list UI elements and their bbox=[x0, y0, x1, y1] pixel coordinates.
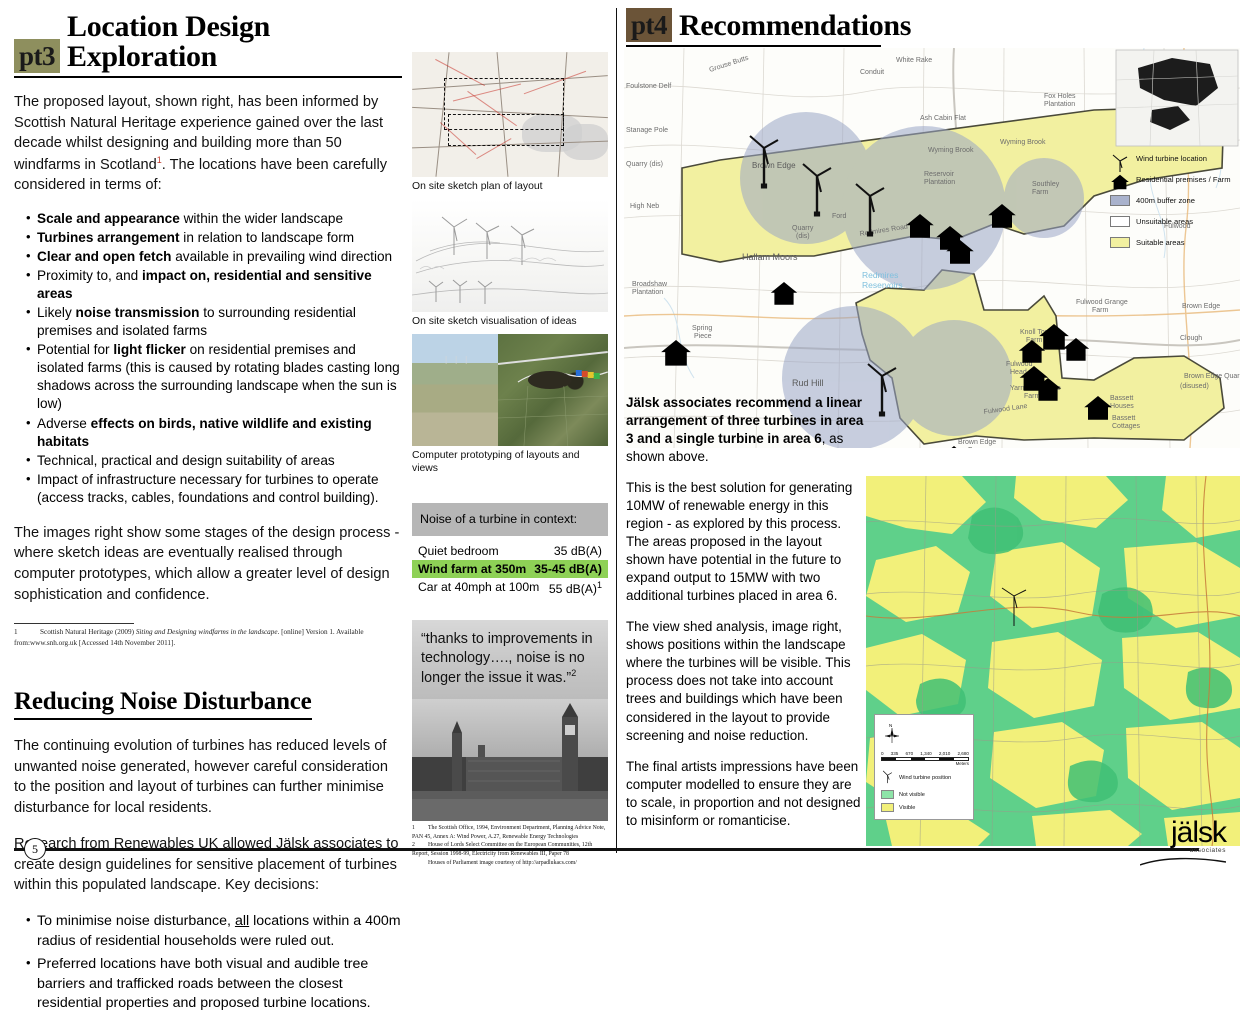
quote-block: “thanks to improvements in technology….,… bbox=[412, 620, 608, 821]
computer-prototyping-caption: Computer prototyping of layouts and view… bbox=[412, 446, 608, 481]
svg-text:Reservoirs: Reservoirs bbox=[862, 280, 903, 290]
scale-unit: Meters bbox=[881, 761, 969, 766]
list-item: Scale and appearance within the wider la… bbox=[26, 210, 402, 228]
svg-text:Plantation: Plantation bbox=[924, 179, 955, 186]
noise-paragraph-2: Research from Renewables UK allowed Jäls… bbox=[14, 834, 402, 896]
svg-text:Brown Edge: Brown Edge bbox=[1182, 303, 1220, 310]
svg-text:Farm: Farm bbox=[1024, 393, 1041, 400]
quote-footnotes: 1The Scottish Office, 1994, Environment … bbox=[412, 821, 608, 867]
svg-text:Wyming Brook: Wyming Brook bbox=[1000, 139, 1046, 146]
prototype-3d-view bbox=[412, 334, 498, 446]
pt4-badge: pt4 bbox=[626, 8, 672, 42]
svg-text:Quarry: Quarry bbox=[792, 225, 814, 232]
svg-text:Bassett: Bassett bbox=[1112, 415, 1135, 422]
footer-rule bbox=[14, 848, 1199, 851]
unsuitable-swatch bbox=[1110, 216, 1130, 227]
pencil-sketch-svg bbox=[412, 199, 608, 312]
pt4-title: Recommendations bbox=[679, 11, 911, 42]
column-divider bbox=[616, 8, 617, 853]
svg-text:Farm: Farm bbox=[1092, 307, 1109, 314]
footnote-ref-2: 2 bbox=[571, 668, 576, 678]
quote-text-panel: “thanks to improvements in technology….,… bbox=[412, 620, 608, 699]
svg-text:Cottages: Cottages bbox=[1112, 423, 1141, 430]
svg-text:N: N bbox=[889, 723, 892, 728]
svg-text:Wyming Brook: Wyming Brook bbox=[928, 147, 974, 154]
recommendation-paragraph-3: The view shed analysis, image right, sho… bbox=[626, 618, 864, 744]
legend-item-buffer: 400m buffer zone bbox=[1110, 190, 1238, 211]
svg-text:Ford: Ford bbox=[832, 213, 847, 220]
svg-text:Hallam Moors: Hallam Moors bbox=[742, 252, 798, 262]
suitability-map[interactable]: White Rake Conduit Grouse Butts Ash Cabi… bbox=[624, 48, 1240, 448]
pt3-footnote: 1Scottish Natural Heritage (2009) Siting… bbox=[14, 623, 134, 648]
svg-text:Quarry (dis): Quarry (dis) bbox=[626, 161, 663, 168]
svg-text:Brown Edge: Brown Edge bbox=[752, 161, 796, 170]
not-visible-swatch bbox=[881, 790, 894, 799]
svg-text:Piece: Piece bbox=[694, 333, 712, 340]
svg-text:Rud Hill: Rud Hill bbox=[792, 378, 824, 388]
visible-swatch bbox=[881, 803, 894, 812]
legend-label: 400m buffer zone bbox=[1136, 196, 1195, 205]
noise-section: Reducing Noise Disturbance The continuin… bbox=[14, 688, 402, 1014]
svg-text:Redmires: Redmires bbox=[862, 270, 898, 280]
brand-logo: jälsk associates bbox=[1140, 818, 1226, 872]
legend-label: Not visible bbox=[899, 792, 925, 798]
pt3-closing-paragraph: The images right show some stages of the… bbox=[14, 523, 402, 605]
svg-text:Reservoir: Reservoir bbox=[924, 171, 955, 178]
legend-item-visible: Visible bbox=[881, 803, 968, 812]
list-item: Potential for light flicker on residenti… bbox=[26, 341, 402, 413]
recommendation-paragraph-4: The final artists impressions have been … bbox=[626, 758, 864, 830]
legend-label: Visible bbox=[899, 805, 915, 811]
noise-section-title: Reducing Noise Disturbance bbox=[14, 688, 312, 720]
viewshed-legend: N 0 335 670 1,340 2,010 2,680 bbox=[874, 714, 974, 820]
svg-text:Spring: Spring bbox=[692, 325, 712, 332]
house-icon bbox=[1110, 174, 1130, 185]
svg-text:Southley: Southley bbox=[1032, 181, 1060, 188]
design-criteria-list: Scale and appearance within the wider la… bbox=[26, 210, 402, 507]
sketch-visualisation-image bbox=[412, 199, 608, 312]
legend-item-suitable: Suitable areas bbox=[1110, 232, 1238, 253]
svg-text:Brown Edge Quarries: Brown Edge Quarries bbox=[1184, 373, 1240, 380]
svg-text:Farm: Farm bbox=[1032, 189, 1049, 196]
scale-bar: 0 335 670 1,340 2,010 2,680 Meters bbox=[881, 751, 968, 766]
logo-wordmark: jälsk bbox=[1140, 818, 1226, 848]
logo-swoosh-icon bbox=[1140, 857, 1226, 867]
recommendation-statement: Jälsk associates recommend a linear arra… bbox=[626, 394, 864, 466]
svg-text:Ash Cabin Flat: Ash Cabin Flat bbox=[920, 115, 966, 122]
emphasis-all: all bbox=[235, 913, 249, 929]
pt3-section-header: pt3 Location Design Exploration bbox=[14, 12, 402, 78]
noise-decisions-list: To minimise noise disturbance, all locat… bbox=[26, 912, 402, 1014]
svg-text:Broadshaw: Broadshaw bbox=[632, 281, 668, 288]
svg-text:(disused): (disused) bbox=[1180, 383, 1209, 390]
buffer-swatch bbox=[1110, 195, 1130, 206]
svg-text:Clough: Clough bbox=[1180, 335, 1202, 342]
table-row: Quiet bedroom 35 dB(A) bbox=[412, 542, 608, 560]
suitability-map-legend: Wind turbine location Residential premis… bbox=[1110, 148, 1238, 253]
table-row: Car at 40mph at 100m 55 dB(A)1 bbox=[412, 578, 608, 598]
legend-label: Residential premises / Farm bbox=[1136, 175, 1231, 184]
list-item: Likely noise transmission to surrounding… bbox=[26, 304, 402, 340]
quote-text: “thanks to improvements in technology….,… bbox=[421, 631, 593, 685]
pt3-intro-paragraph: The proposed layout, shown right, has be… bbox=[14, 92, 402, 196]
sketch-plan-caption: On site sketch plan of layout bbox=[412, 177, 608, 199]
sketch-plan-image bbox=[412, 52, 608, 177]
turbine-icon bbox=[881, 770, 894, 786]
legend-item-turbine-position: Wind turbine position bbox=[881, 770, 968, 786]
page-number: 5 bbox=[24, 838, 46, 860]
svg-text:Houses: Houses bbox=[1110, 403, 1134, 410]
page-title: Location Design Exploration bbox=[67, 12, 402, 73]
middle-column: On site sketch plan of layout bbox=[412, 52, 608, 867]
legend-item-unsuitable: Unsuitable areas bbox=[1110, 211, 1238, 232]
svg-text:Plantation: Plantation bbox=[1044, 101, 1075, 108]
noise-context-table: Noise of a turbine in context: Quiet bed… bbox=[412, 503, 608, 598]
list-item: Adverse effects on birds, native wildlif… bbox=[26, 415, 402, 451]
svg-text:Foulstone Delf: Foulstone Delf bbox=[626, 83, 671, 90]
svg-text:Plantation: Plantation bbox=[632, 289, 663, 296]
legend-item-turbine: Wind turbine location bbox=[1110, 148, 1238, 169]
legend-label: Suitable areas bbox=[1136, 238, 1185, 247]
north-arrow-icon: N bbox=[881, 721, 903, 747]
noise-paragraph-1: The continuing evolution of turbines has… bbox=[14, 736, 402, 818]
prototype-aerial-view bbox=[498, 334, 608, 446]
svg-text:Brown Edge: Brown Edge bbox=[958, 439, 996, 446]
pt3-badge: pt3 bbox=[14, 39, 60, 73]
list-item: Preferred locations have both visual and… bbox=[26, 955, 402, 1014]
footnote-ref-1: 1 bbox=[597, 580, 602, 590]
svg-text:High Neb: High Neb bbox=[630, 203, 659, 210]
table-row: Wind farm at 350m 35-45 dB(A) bbox=[412, 560, 608, 578]
viewshed-map[interactable]: N 0 335 670 1,340 2,010 2,680 bbox=[866, 476, 1240, 846]
recommendation-paragraph-2: This is the best solution for generating… bbox=[626, 479, 864, 605]
svg-text:(dis): (dis) bbox=[796, 233, 810, 240]
sketch-visualisation-caption: On site sketch visualisation of ideas bbox=[412, 312, 608, 334]
list-item: Technical, practical and design suitabil… bbox=[26, 452, 402, 470]
svg-text:Fox Holes: Fox Holes bbox=[1044, 93, 1076, 100]
svg-text:Farm: Farm bbox=[968, 447, 985, 448]
legend-label: Wind turbine position bbox=[899, 775, 951, 781]
footnote-number: 1 bbox=[14, 627, 40, 637]
legend-label: Unsuitable areas bbox=[1136, 217, 1193, 226]
poster-page: pt3 Location Design Exploration The prop… bbox=[0, 0, 1240, 875]
svg-text:White Rake: White Rake bbox=[896, 57, 932, 64]
computer-prototyping-image bbox=[412, 334, 608, 446]
legend-item-not-visible: Not visible bbox=[881, 790, 968, 799]
list-item: Clear and open fetch available in prevai… bbox=[26, 248, 402, 266]
turbine-icon bbox=[1110, 153, 1130, 164]
list-item: Proximity to, and impact on, residential… bbox=[26, 267, 402, 303]
svg-text:Fulwood Grange: Fulwood Grange bbox=[1076, 299, 1128, 306]
list-item: To minimise noise disturbance, all locat… bbox=[26, 912, 402, 951]
houses-of-parliament-image bbox=[412, 699, 608, 821]
recommendations-text: Jälsk associates recommend a linear arra… bbox=[626, 394, 864, 843]
pt4-section-header: pt4 Recommendations bbox=[626, 8, 1226, 47]
table-header: Noise of a turbine in context: bbox=[412, 503, 608, 536]
list-item: Impact of infrastructure necessary for t… bbox=[26, 471, 402, 507]
svg-text:Stanage Pole: Stanage Pole bbox=[626, 127, 668, 134]
legend-label: Wind turbine location bbox=[1136, 154, 1207, 163]
left-column: pt3 Location Design Exploration The prop… bbox=[14, 48, 402, 1015]
svg-text:Bassett: Bassett bbox=[1110, 395, 1133, 402]
list-item: Turbines arrangement in relation to land… bbox=[26, 229, 402, 247]
suitable-swatch bbox=[1110, 237, 1130, 248]
svg-text:Conduit: Conduit bbox=[860, 69, 884, 76]
